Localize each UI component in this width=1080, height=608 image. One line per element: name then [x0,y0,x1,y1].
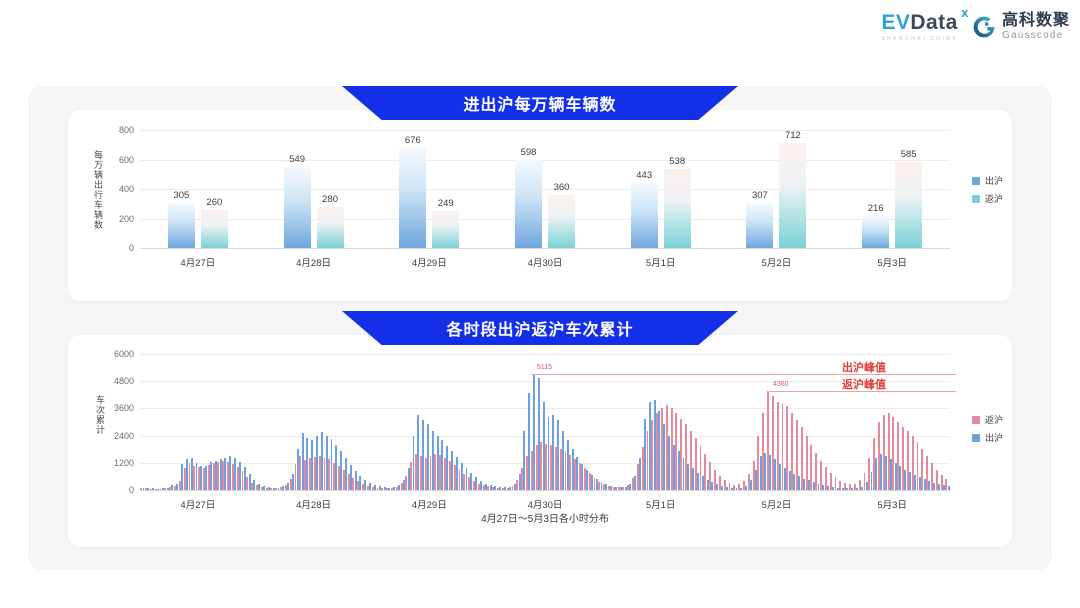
chart1-y-tick: 0 [129,243,134,253]
dashboard-panel: 进出沪每万辆车辆数 各时段出沪返沪车次累计 0200400600800 3052… [28,86,1052,570]
chart2-x-tick: 4月30日 [528,497,563,511]
chart1-bar-value: 538 [669,156,685,167]
chart1-gridline [140,130,950,131]
chart2-peak-name-0: 出沪峰值 [842,359,886,375]
logo-group: EVDatax SHANGHAI CHINA 高科数聚 [881,12,1070,42]
chart1-x-tick: 4月27日 [180,255,215,269]
chart2-x-tick: 5月1日 [646,497,676,511]
chart1-gridline [140,189,950,190]
chart2-bar-depart [948,486,950,490]
chart2-x-tick: 4月28日 [296,497,331,511]
chart1-bar-出沪 [515,160,542,248]
chart1-gridline [140,248,950,249]
evdata-tagline: SHANGHAI CHINA [881,36,958,42]
chart1-x-tick: 4月28日 [296,255,331,269]
chart1-x-tick: 4月29日 [412,255,447,269]
chart1-y-tick: 400 [119,184,134,194]
chart1-legend-swatch-返沪 [972,195,980,203]
chart2-title-ribbon: 各时段出沪返沪车次累计 [342,311,738,345]
chart2-x-tick: 4月29日 [412,497,447,511]
chart1-bar-value: 260 [206,197,222,208]
chart2-peak-value-0: 5115 [537,364,552,371]
chart1-title-ribbon: 进出沪每万辆车辆数 [342,86,738,120]
chart2-plot-area: 012002400360048006000 5115出沪峰值4360返沪峰值 4… [140,354,950,490]
chart2-peak-value-1: 4360 [773,381,789,388]
gausscode-g-icon [972,15,996,39]
chart2-legend-swatch-出沪 [972,434,980,442]
chart1-y-tick: 200 [119,214,134,224]
chart1-bar-出沪 [862,216,889,248]
chart1-bar-value: 216 [868,203,884,214]
evdata-prefix: EV [881,11,910,34]
chart1-y-axis-label: 每万辆出行车辆数 [92,144,105,236]
evdata-suffix: Data [910,11,958,34]
chart1-bar-value: 305 [173,190,189,201]
chart2-x-tick: 5月3日 [877,497,907,511]
chart2-legend-item-返沪[interactable]: 返沪 [972,413,1003,426]
chart2-x-tick: 4月27日 [180,497,215,511]
chart2-y-tick: 4800 [114,376,134,386]
chart1-gridline [140,219,950,220]
chart1-legend-item-返沪[interactable]: 返沪 [972,192,1003,205]
chart2-x-tick: 5月2日 [762,497,792,511]
evdata-cross-icon: x [961,6,969,19]
page-header: EVDatax SHANGHAI CHINA 高科数聚 [0,0,1080,66]
chart1-x-tick: 5月1日 [646,255,676,269]
chart1-bar-value: 280 [322,194,338,205]
chart1-bar-value: 549 [289,154,305,165]
chart1-x-tick: 4月30日 [528,255,563,269]
chart2-y-tick: 2400 [114,431,134,441]
chart1-bar-出沪 [746,203,773,248]
chart1-y-tick: 600 [119,155,134,165]
chart1-bar-出沪 [168,203,195,248]
chart2-peak-line-0 [531,374,956,375]
chart1-legend-label: 出沪 [985,174,1003,187]
chart2-y-tick: 6000 [114,349,134,359]
chart2-gridline [140,408,950,409]
chart1-bar-value: 598 [521,147,537,158]
chart1-y-tick: 800 [119,125,134,135]
gausscode-name-en: Gausscode [1002,31,1070,41]
gausscode-text: 高科数聚 Gausscode [1002,13,1070,41]
chart1-bar-返沪 [317,207,344,248]
chart2-peak-name-1: 返沪峰值 [842,376,886,392]
chart1-bar-value: 443 [636,170,652,181]
chart2-y-tick: 1200 [114,458,134,468]
chart2-legend[interactable]: 返沪出沪 [972,413,1003,444]
chart1-bar-value: 585 [901,149,917,160]
chart2-legend-label: 返沪 [985,413,1003,426]
chart1-bar-出沪 [284,167,311,248]
chart2-gridline [140,436,950,437]
chart1-bar-返沪 [895,162,922,248]
chart1-bar-value: 249 [438,198,454,209]
chart2-legend-swatch-返沪 [972,416,980,424]
chart1-x-tick: 5月2日 [762,255,792,269]
evdata-logo: EVDatax SHANGHAI CHINA [881,12,958,42]
chart2-gridline [140,381,950,382]
chart1-bar-返沪 [432,211,459,248]
chart1-bar-出沪 [631,183,658,248]
chart1-legend-swatch-出沪 [972,177,980,185]
chart1-legend-item-出沪[interactable]: 出沪 [972,174,1003,187]
chart2-x-axis-title: 4月27日～5月3日各小时分布 [481,510,609,525]
chart1-bar-value: 712 [785,130,801,141]
chart2-y-tick: 3600 [114,403,134,413]
chart1-bar-返沪 [664,169,691,248]
chart1-bar-返沪 [201,210,228,248]
chart1-bar-返沪 [548,195,575,248]
gausscode-name-cn: 高科数聚 [1002,13,1070,29]
chart1-bar-出沪 [399,148,426,248]
chart2-gridline [140,354,950,355]
gausscode-logo: 高科数聚 Gausscode [972,13,1070,41]
chart1-legend-label: 返沪 [985,192,1003,205]
chart2-legend-item-出沪[interactable]: 出沪 [972,431,1003,444]
chart1-legend[interactable]: 出沪返沪 [972,174,1003,205]
chart1-bar-value: 676 [405,135,421,146]
chart1-bar-value: 360 [554,182,570,193]
chart1-x-tick: 5月3日 [877,255,907,269]
chart2-gridline [140,490,950,491]
chart2-y-axis-label: 车次累计 [94,386,107,444]
chart1-bar-value: 307 [752,190,768,201]
chart2-legend-label: 出沪 [985,431,1003,444]
evdata-wordmark: EVDatax [881,12,958,33]
chart1-plot-area: 0200400600800 30526054928067624959836044… [140,130,950,248]
chart1-gridline [140,160,950,161]
chart2-y-tick: 0 [129,485,134,495]
chart1-bar-返沪 [779,143,806,248]
